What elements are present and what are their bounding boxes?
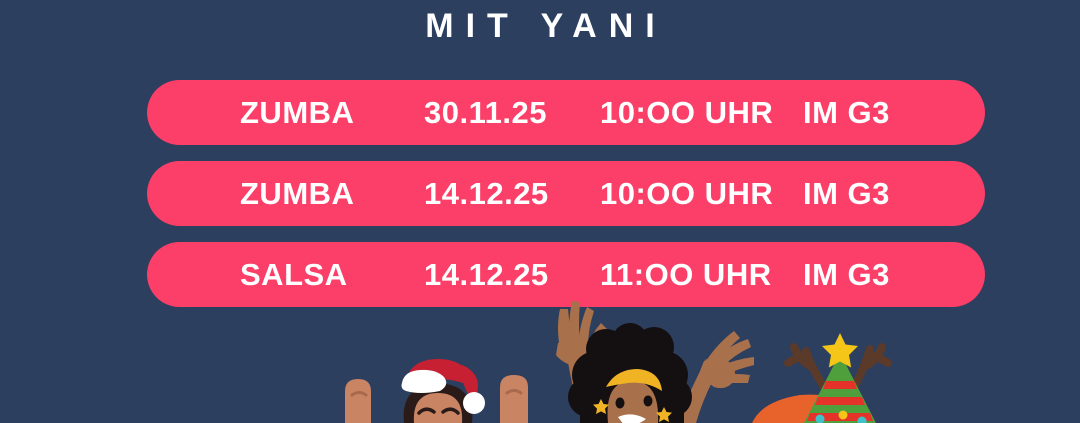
schedule-date: 14.12.25	[424, 178, 549, 209]
schedule-row-1[interactable]: ZUMBA 30.11.25 10:OO UHR IM G3	[147, 80, 985, 145]
ornament-icon	[858, 417, 867, 423]
schedule-activity: SALSA	[240, 259, 348, 290]
poster-canvas: MIT YANI ZUMBA 30.11.25 10:OO UHR IM G3 …	[0, 0, 1080, 423]
santa-hat-dancer	[402, 359, 486, 423]
ornament-icon	[839, 411, 848, 420]
schedule-room: IM G3	[803, 259, 890, 290]
afro-hair	[568, 323, 692, 423]
schedule-time: 11:OO UHR	[600, 259, 772, 290]
star-earring-left-icon	[593, 399, 609, 414]
schedule-time: 10:OO UHR	[600, 178, 773, 209]
schedule-time: 10:OO UHR	[600, 97, 773, 128]
raised-fist-right-icon	[500, 375, 528, 423]
christmas-tree-hat	[804, 353, 876, 423]
afro-dancer	[556, 301, 754, 423]
schedule-activity: ZUMBA	[240, 97, 354, 128]
schedule-room: IM G3	[803, 97, 890, 128]
schedule-date: 14.12.25	[424, 259, 549, 290]
schedule-row-2[interactable]: ZUMBA 14.12.25 10:OO UHR IM G3	[147, 161, 985, 226]
star-earring-right-icon	[656, 407, 672, 422]
schedule-list: ZUMBA 30.11.25 10:OO UHR IM G3 ZUMBA 14.…	[147, 80, 985, 307]
page-title: MIT YANI	[0, 9, 1080, 43]
schedule-row-3[interactable]: SALSA 14.12.25 11:OO UHR IM G3	[147, 242, 985, 307]
schedule-room: IM G3	[803, 178, 890, 209]
schedule-date: 30.11.25	[424, 97, 547, 128]
raised-fist-left-icon	[345, 379, 371, 423]
schedule-activity: ZUMBA	[240, 178, 354, 209]
ornament-icon	[816, 415, 825, 423]
christmas-tree-hat-dancer	[752, 333, 888, 423]
open-hand-left-icon	[556, 301, 607, 367]
open-hand-right-icon	[700, 331, 754, 388]
star-topper-icon	[822, 333, 858, 368]
reindeer-antlers-icon	[788, 347, 888, 387]
